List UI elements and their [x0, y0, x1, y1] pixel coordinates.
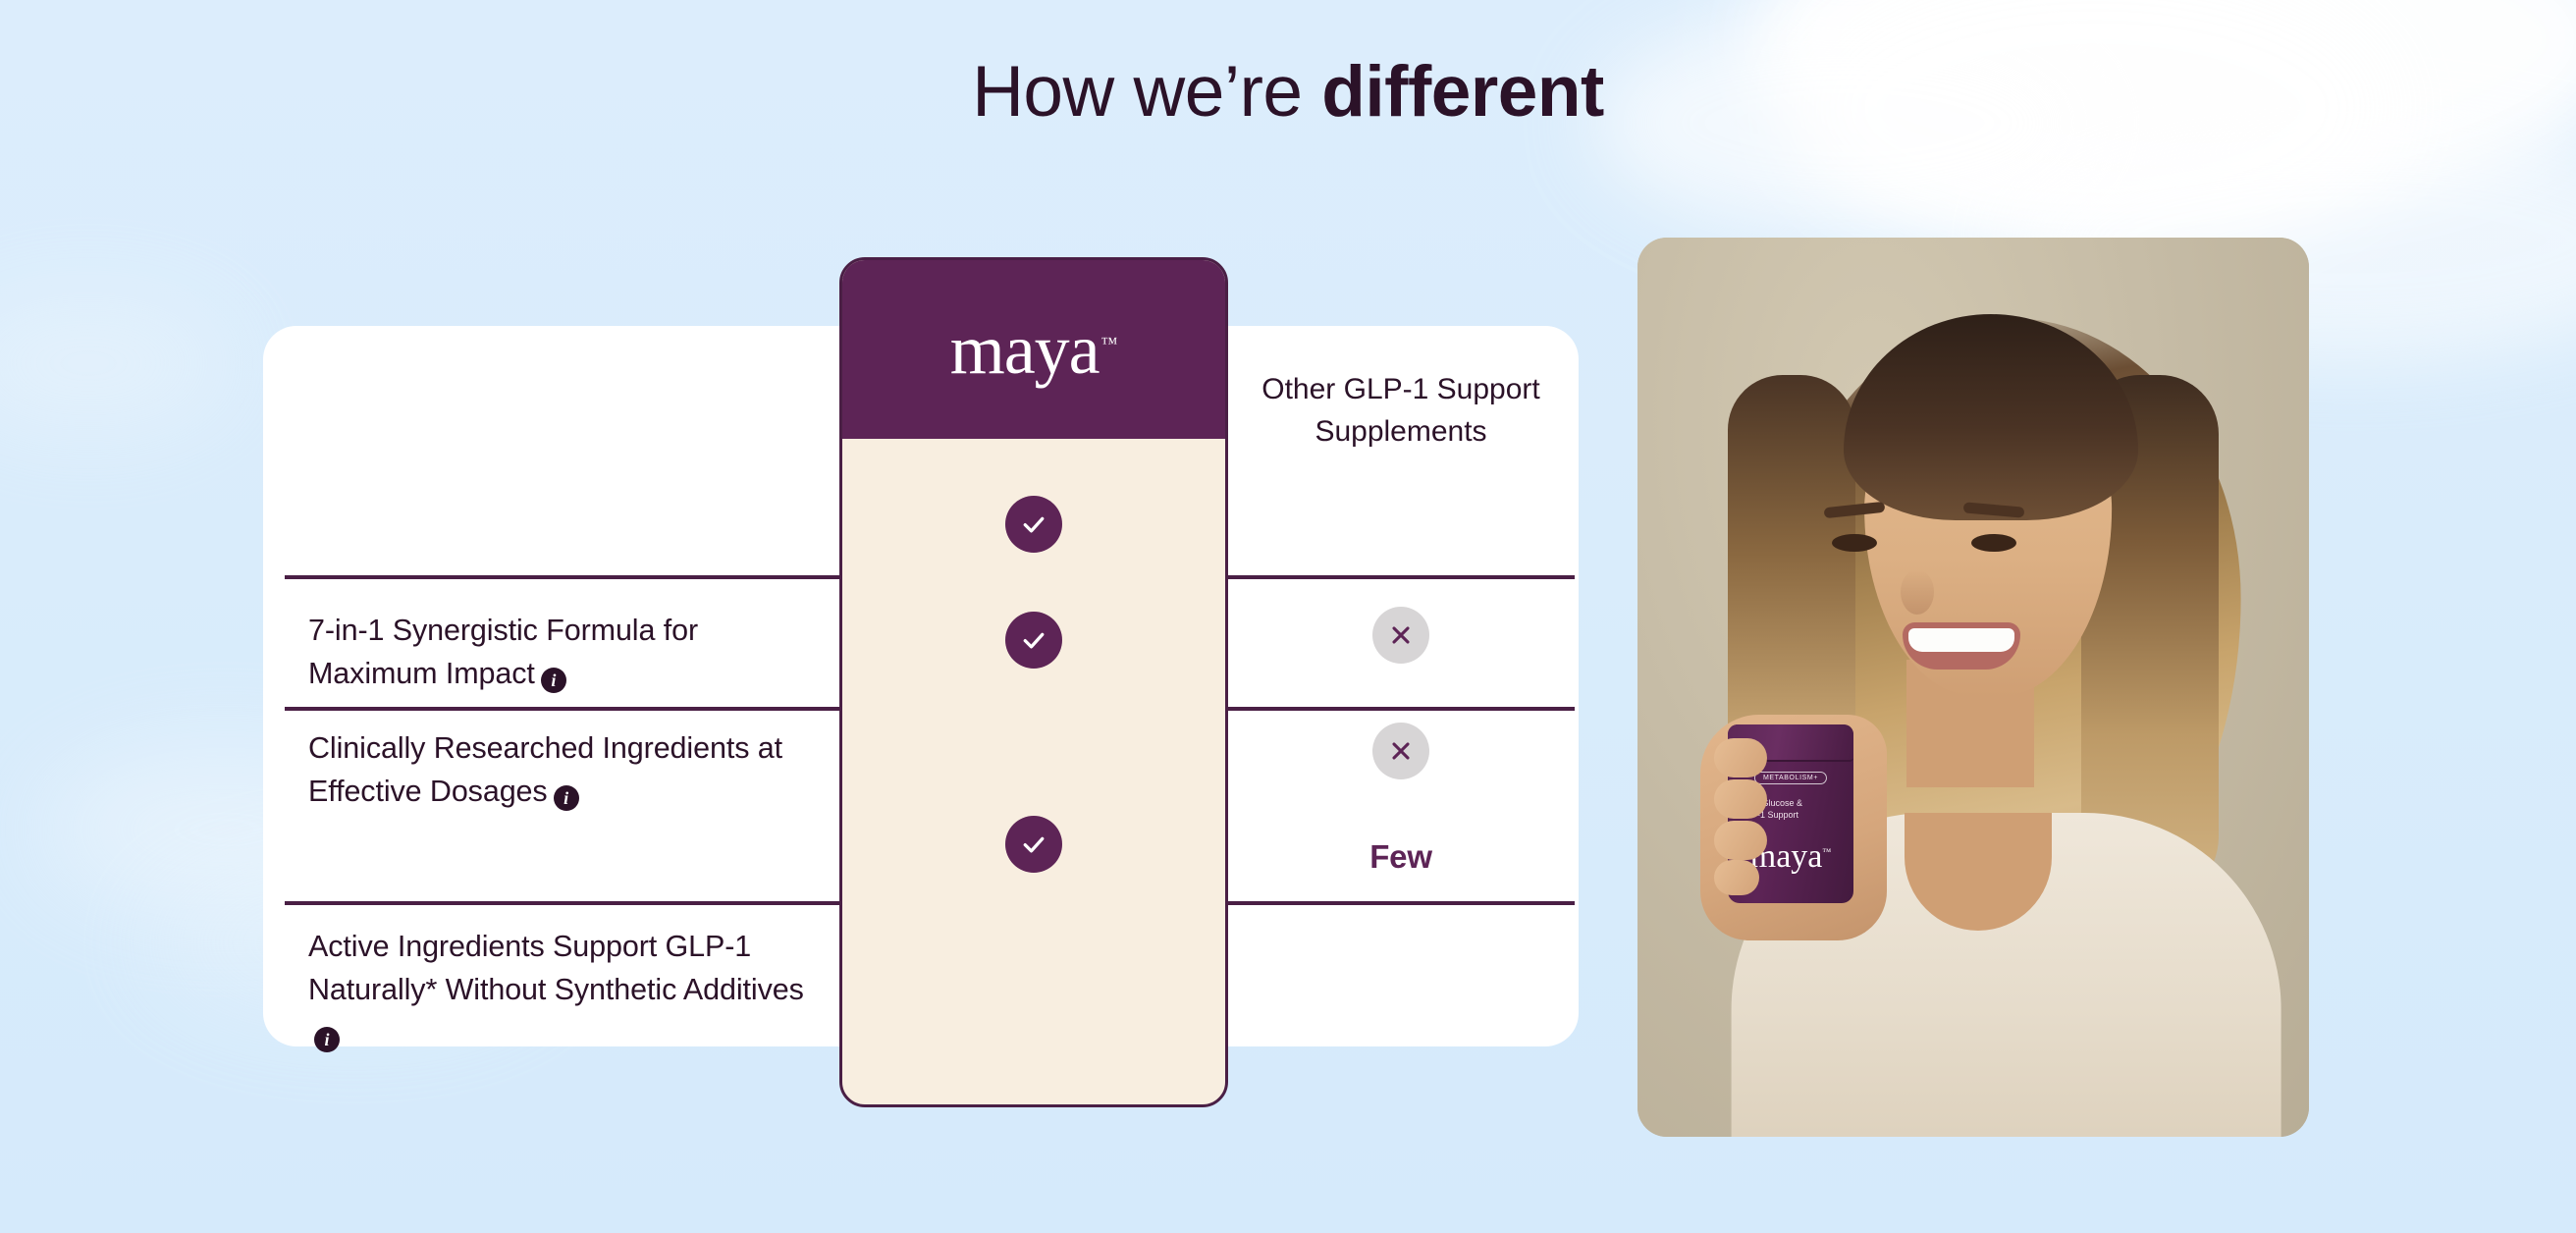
model-nose [1901, 569, 1934, 615]
maya-column-header: maya™ [842, 260, 1225, 439]
row-divider [285, 575, 839, 579]
model-fingers [1714, 728, 1769, 903]
info-icon[interactable]: i [554, 785, 579, 811]
trademark-symbol: ™ [1101, 334, 1118, 352]
check-icon [1005, 496, 1062, 553]
maya-column: maya™ [839, 257, 1228, 1107]
jar-trademark: ™ [1822, 847, 1831, 857]
info-icon[interactable]: i [541, 668, 566, 693]
other-cell-row-2 [1227, 723, 1575, 779]
close-icon [1372, 723, 1429, 779]
finger [1714, 860, 1759, 895]
check-icon [1005, 816, 1062, 873]
info-icon[interactable]: i [314, 1027, 340, 1052]
close-icon [1372, 607, 1429, 664]
status-badge-few: Few [1369, 838, 1432, 876]
finger [1714, 779, 1767, 819]
feature-text: Active Ingredients Support GLP-1 Natural… [308, 930, 804, 1006]
row-divider [1227, 901, 1575, 905]
maya-logo-text: maya [950, 310, 1100, 389]
maya-column-body [842, 439, 1225, 1104]
product-photo: METABOLISM+ Daily Glucose & GLP-1 Suppor… [1637, 238, 2309, 1137]
check-icon [1005, 612, 1062, 669]
row-divider [1227, 575, 1575, 579]
feature-text: 7-in-1 Synergistic Formula for Maximum I… [308, 614, 698, 690]
row-divider [285, 707, 839, 711]
feature-text: Clinically Researched Ingredients at Eff… [308, 731, 782, 808]
row-divider [1227, 707, 1575, 711]
page-title-bold: different [1321, 52, 1604, 132]
model-teeth [1908, 628, 2014, 652]
model-eye-left [1832, 534, 1877, 552]
feature-label-row-3: Active Ingredients Support GLP-1 Natural… [308, 925, 819, 1055]
maya-cell-row-3 [842, 816, 1225, 873]
feature-label-row-2: Clinically Researched Ingredients at Eff… [308, 726, 819, 813]
other-cell-row-1 [1227, 607, 1575, 664]
model-mouth [1903, 622, 2020, 670]
page-title-light: How we’re [972, 52, 1321, 132]
other-cell-row-3: Few [1227, 829, 1575, 885]
maya-cell-row-2 [842, 612, 1225, 669]
feature-label-row-1: 7-in-1 Synergistic Formula for Maximum I… [308, 609, 819, 695]
model-eye-right [1971, 534, 2016, 552]
column-header-other: Other GLP-1 Support Supplements [1227, 369, 1575, 453]
page-title: How we’re different [0, 55, 2576, 131]
row-divider [285, 901, 839, 905]
finger [1714, 738, 1767, 777]
maya-cell-row-1 [842, 496, 1225, 553]
finger [1714, 821, 1767, 860]
cloud-shape [0, 295, 236, 432]
maya-logo: maya™ [950, 314, 1118, 385]
